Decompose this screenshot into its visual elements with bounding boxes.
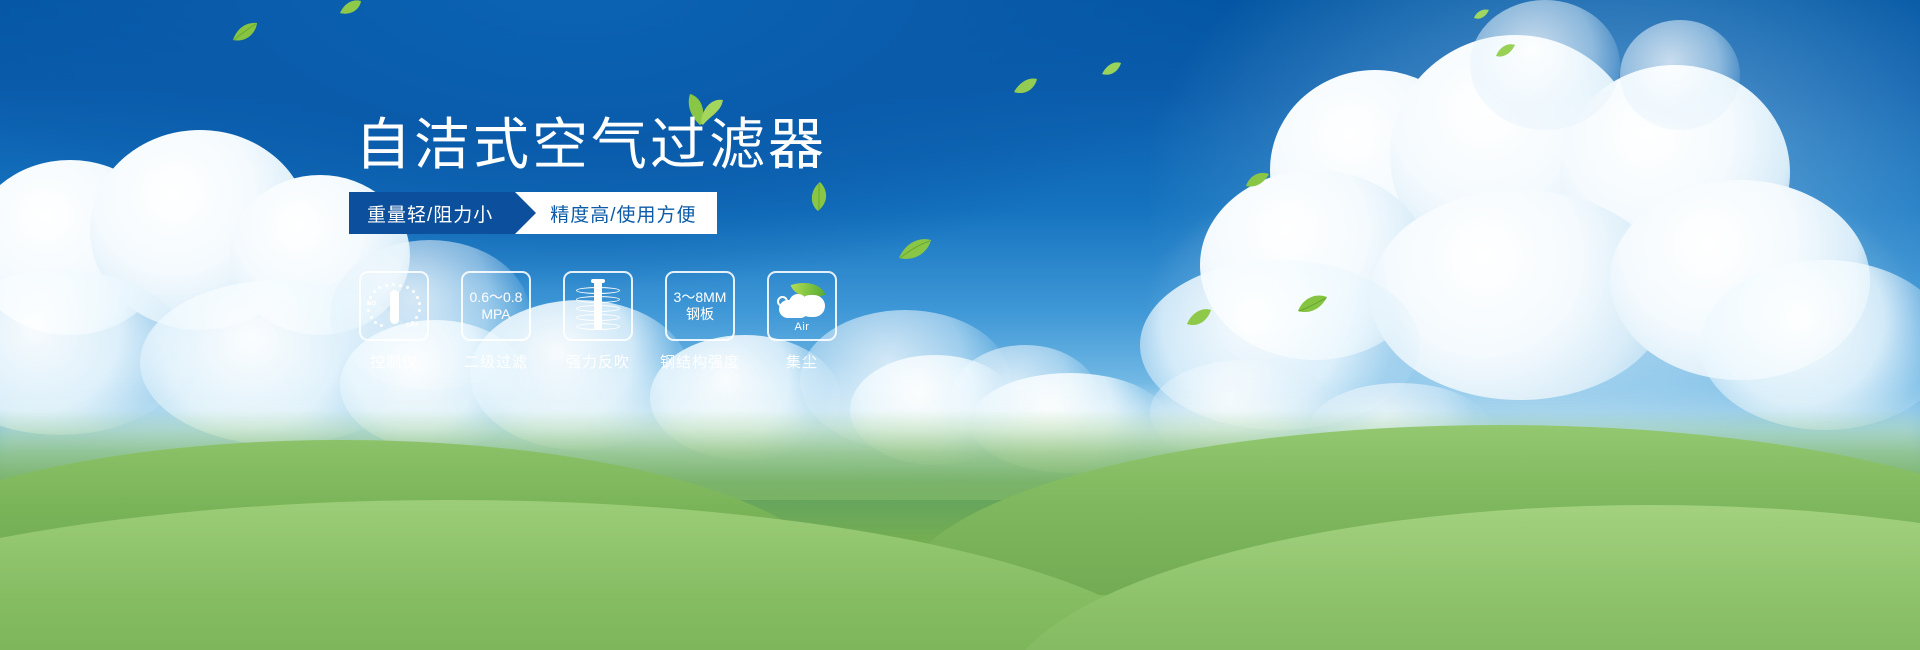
feature-icon-box — [563, 271, 633, 341]
tagline-bar: 重量轻/阻力小 精度高/使用方便 — [349, 192, 717, 234]
steel-value-line2: 钢板 — [686, 306, 714, 323]
feature-caption: 控制仪 — [370, 351, 418, 372]
product-hero-banner: 自洁式空气过滤器 重量轻/阻力小 精度高/使用方便 — [0, 0, 1920, 650]
gauge-label-left: NO — [367, 301, 377, 307]
air-label: Air — [775, 321, 829, 333]
feature-item: NO OFF 控制仪 — [358, 271, 430, 372]
feature-icon-box: 3～8MM 钢板 — [665, 271, 735, 341]
page-title: 自洁式空气过滤器 — [355, 116, 827, 176]
pressure-value-line1: 0.6～0.8 — [470, 289, 523, 306]
filter-cartridge-icon — [576, 281, 620, 331]
feature-item: 强力反吹 — [562, 271, 634, 372]
feature-caption: 钢结构强度 — [660, 351, 740, 372]
feature-list: NO OFF 控制仪 0.6～0.8 MPA 二级过滤 — [358, 271, 838, 372]
feature-caption: 二级过滤 — [464, 351, 528, 372]
banner-content: 自洁式空气过滤器 重量轻/阻力小 精度高/使用方便 — [0, 0, 1920, 650]
steel-value-line1: 3～8MM — [674, 289, 727, 306]
feature-caption: 集尘 — [786, 351, 818, 372]
feature-item: 3～8MM 钢板 钢结构强度 — [664, 271, 736, 372]
pressure-value-line2: MPA — [481, 306, 510, 323]
feature-item: 0.6～0.8 MPA 二级过滤 — [460, 271, 532, 372]
air-dust-cloud-icon: Air — [775, 282, 829, 330]
gauge-label-right: OFF — [406, 323, 419, 329]
feature-caption: 强力反吹 — [566, 351, 630, 372]
feature-item: Air 集尘 — [766, 271, 838, 372]
feature-icon-box: NO OFF — [359, 271, 429, 341]
gauge-needle — [390, 290, 399, 324]
feature-icon-box: 0.6～0.8 MPA — [461, 271, 531, 341]
gauge-icon: NO OFF — [368, 281, 420, 331]
feature-icon-box: Air — [767, 271, 837, 341]
tagline-secondary: 精度高/使用方便 — [514, 192, 716, 234]
tagline-primary: 重量轻/阻力小 — [349, 192, 515, 234]
